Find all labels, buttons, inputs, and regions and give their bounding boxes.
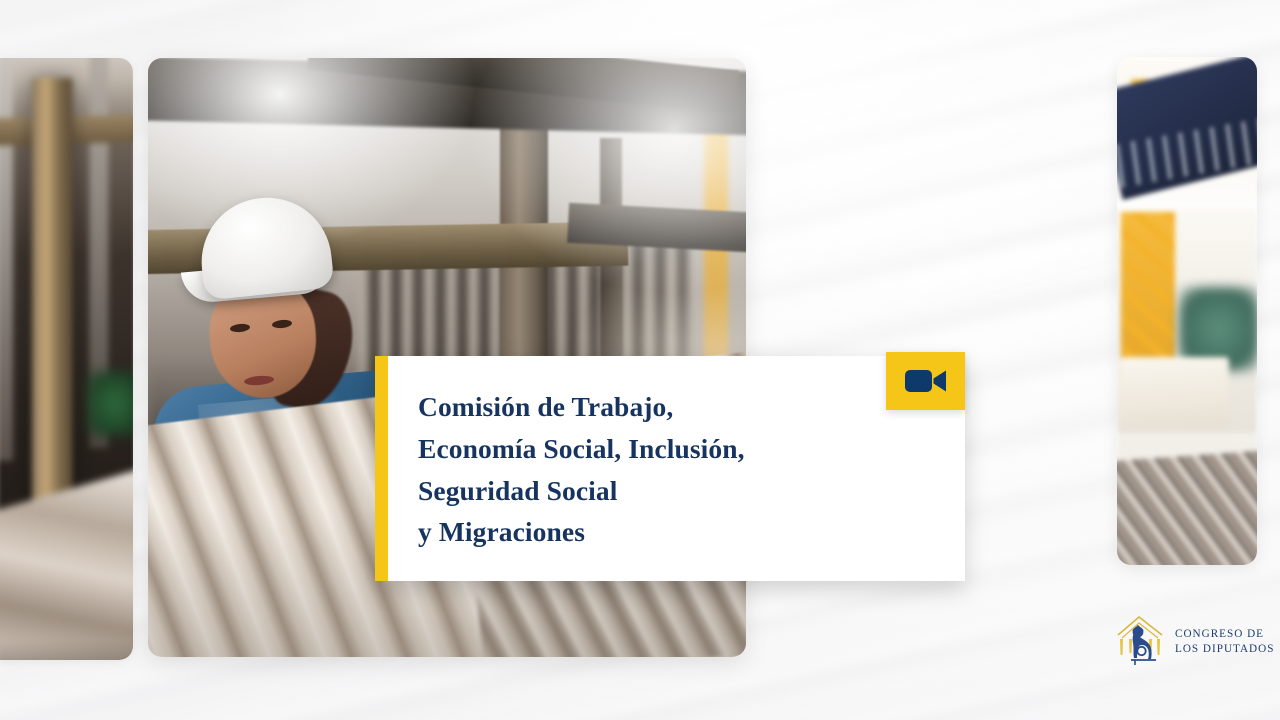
title-line-3: Seguridad Social <box>418 470 745 512</box>
photo-green-blur <box>87 372 133 436</box>
title-line-1: Comisión de Trabajo, <box>418 386 745 428</box>
video-camera-icon <box>905 367 947 395</box>
accent-bar <box>375 356 388 581</box>
logo-line-1: CONGRESO DE <box>1175 627 1274 642</box>
congress-lion-emblem <box>1112 613 1168 671</box>
warehouse-crane-photo <box>1117 57 1257 565</box>
industrial-beams-photo <box>0 58 133 660</box>
slide-stage: Comisión de Trabajo, Economía Social, In… <box>0 0 1280 720</box>
logo-line-2: LOS DIPUTADOS <box>1175 642 1274 657</box>
title-card-body: Comisión de Trabajo, Economía Social, In… <box>388 356 965 581</box>
right-photo-panel <box>1117 57 1257 565</box>
left-photo-panel <box>0 58 133 660</box>
page-title: Comisión de Trabajo, Economía Social, In… <box>418 386 745 553</box>
photo-metal-rods <box>1117 449 1257 565</box>
congress-logo-text: CONGRESO DE LOS DIPUTADOS <box>1175 627 1274 656</box>
title-line-2: Economía Social, Inclusión, <box>418 428 745 470</box>
congress-logo: CONGRESO DE LOS DIPUTADOS <box>1112 610 1264 674</box>
title-line-4: y Migraciones <box>418 511 745 553</box>
video-camera-badge[interactable] <box>886 352 965 410</box>
photo-white-block <box>1119 357 1229 429</box>
photo-bottom-shade <box>0 640 133 660</box>
title-card: Comisión de Trabajo, Economía Social, In… <box>375 356 965 581</box>
